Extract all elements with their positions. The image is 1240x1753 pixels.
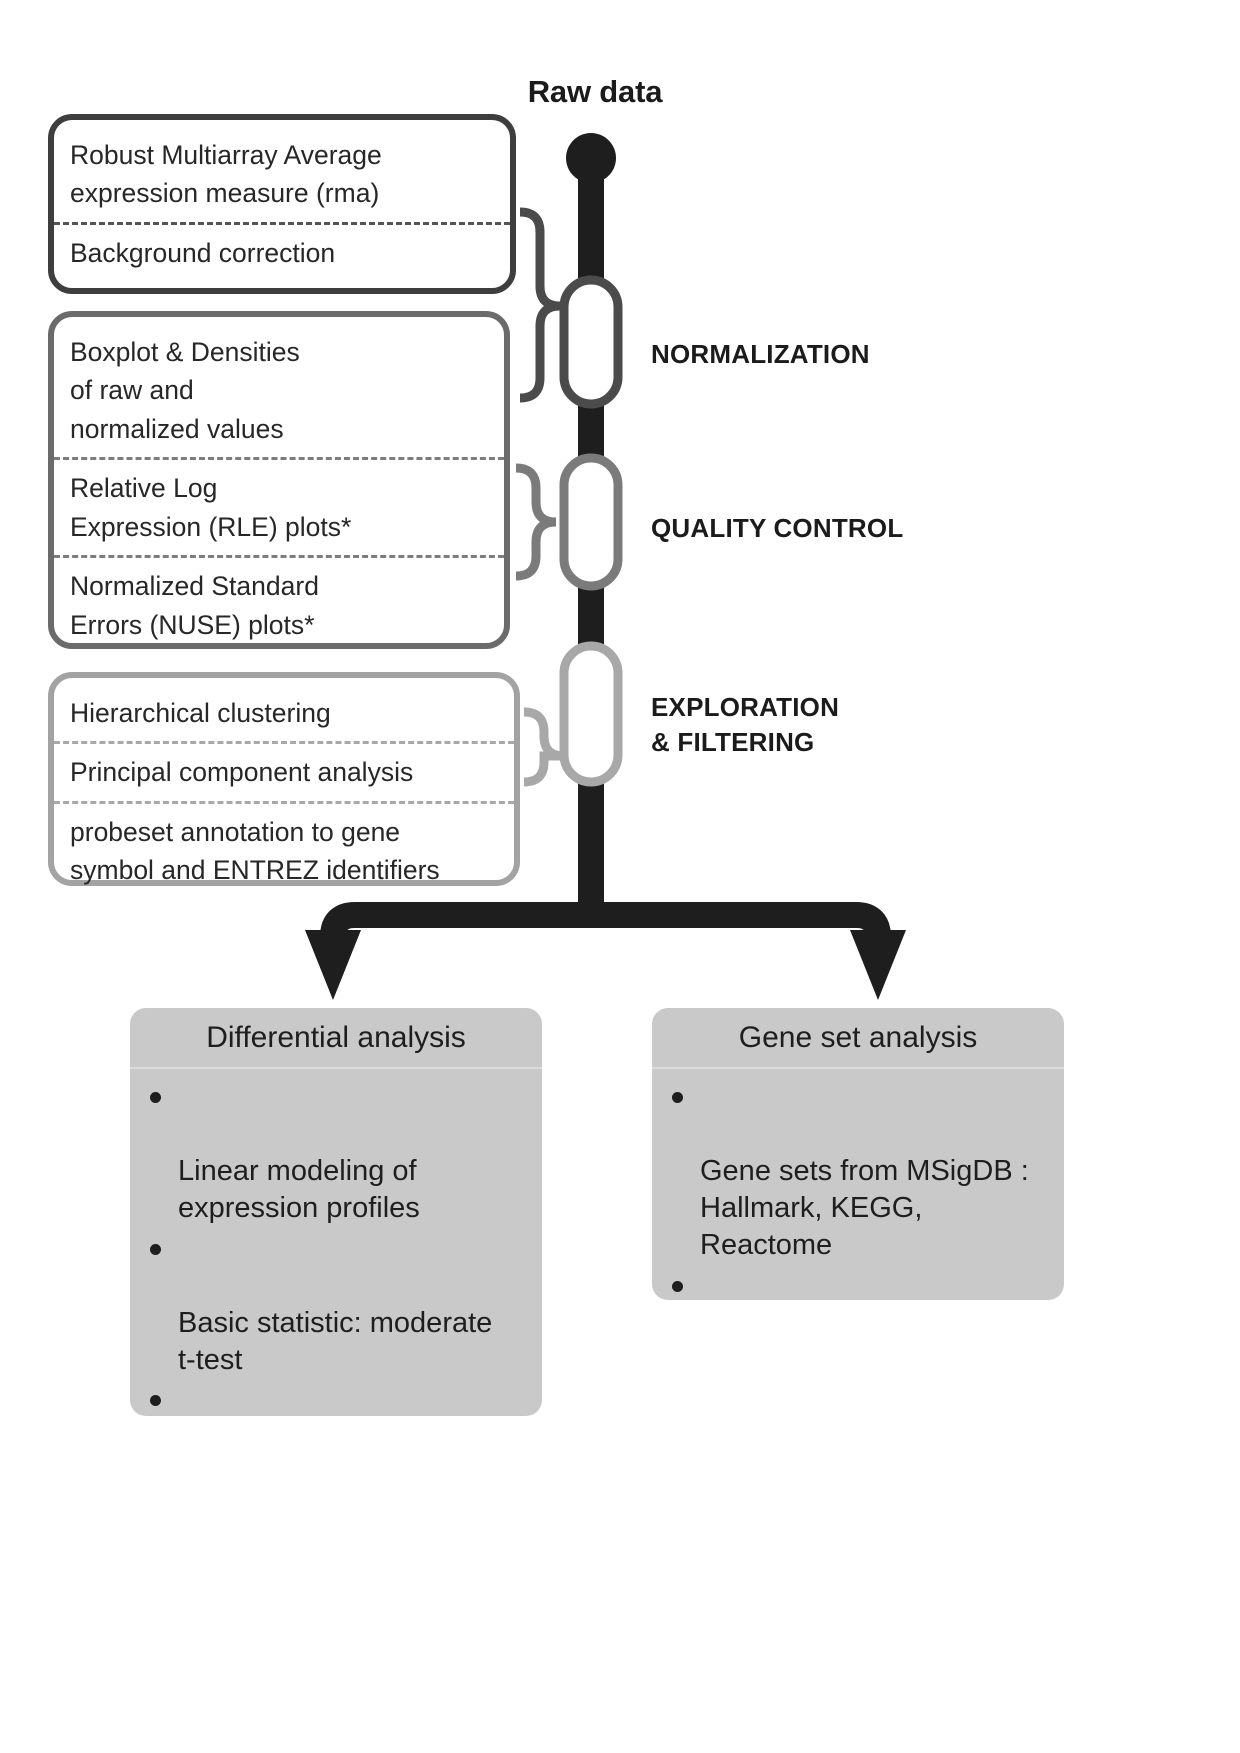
spine-trunk: [566, 133, 616, 902]
method-item: Normalized Standard Errors (NUSE) plots*: [54, 555, 504, 653]
panel-bullet-list: Linear modeling of expression profiles B…: [130, 1069, 542, 1416]
stage-node-normalization: [520, 212, 618, 404]
method-item: Robust Multiarray Average expression mea…: [54, 127, 510, 222]
panel-title: Gene set analysis: [652, 1008, 1064, 1069]
spine-fork: [305, 890, 906, 1000]
list-item: Multiple testing correstion of p-value u…: [148, 1382, 528, 1416]
method-card-quality-control: Boxplot & Densities of raw and normalize…: [48, 311, 510, 649]
arrow-head-right: [850, 930, 906, 1000]
list-item-text: Linear modeling of expression profiles: [178, 1155, 420, 1224]
bullet-icon: [150, 1244, 161, 1255]
panel-bullet-list: Gene sets from MSigDB : Hallmark, KEGG, …: [652, 1069, 1064, 1300]
method-item: Relative Log Expression (RLE) plots*: [54, 457, 504, 555]
list-item: Basic statistic: moderate t-test: [148, 1230, 528, 1378]
stage-label-normalization: NORMALIZATION: [651, 337, 870, 372]
analysis-panel-differential: Differential analysis Linear modeling of…: [130, 1008, 542, 1416]
bullet-icon: [150, 1092, 161, 1103]
bullet-icon: [672, 1281, 683, 1292]
list-item-text: Gene sets from MSigDB : Hallmark, KEGG, …: [700, 1155, 1029, 1261]
method-item: Hierarchical clustering: [54, 685, 514, 741]
bullet-icon: [672, 1092, 683, 1103]
list-item: Gene sets from MSigDB : Hallmark, KEGG, …: [670, 1079, 1050, 1265]
panel-title: Differential analysis: [130, 1008, 542, 1069]
stage-node-quality: [516, 458, 618, 586]
list-item: Linear modeling of expression profiles: [148, 1079, 528, 1227]
arrow-head-left: [305, 930, 361, 1000]
diagram-canvas: Raw data NORMALIZATION QUALITY CONTROL E…: [0, 0, 1240, 1753]
analysis-panel-gene-set: Gene set analysis Gene sets from MSigDB …: [652, 1008, 1064, 1300]
method-card-exploration-filtering: Hierarchical clustering Principal compon…: [48, 672, 520, 886]
method-card-normalization-body: Robust Multiarray Average expression mea…: [54, 127, 510, 281]
method-item: probeset annotation to gene symbol and E…: [54, 801, 514, 899]
stage-label-quality-control: QUALITY CONTROL: [651, 511, 903, 546]
method-card-exploration-filtering-body: Hierarchical clustering Principal compon…: [54, 685, 514, 873]
stage-node-exploration: [524, 646, 618, 782]
method-item: Boxplot & Densities of raw and normalize…: [54, 324, 504, 457]
bullet-icon: [150, 1395, 161, 1406]
list-item: Gene set test using competitive method C…: [670, 1268, 1050, 1300]
method-item: Principal component analysis: [54, 741, 514, 800]
list-item-text: Basic statistic: moderate t-test: [178, 1307, 492, 1376]
method-item: Background correction: [54, 222, 510, 281]
method-card-quality-control-body: Boxplot & Densities of raw and normalize…: [54, 324, 504, 636]
stage-label-exploration-filtering: EXPLORATION & FILTERING: [651, 690, 839, 760]
method-card-normalization: Robust Multiarray Average expression mea…: [48, 114, 516, 294]
raw-data-label: Raw data: [430, 74, 760, 110]
